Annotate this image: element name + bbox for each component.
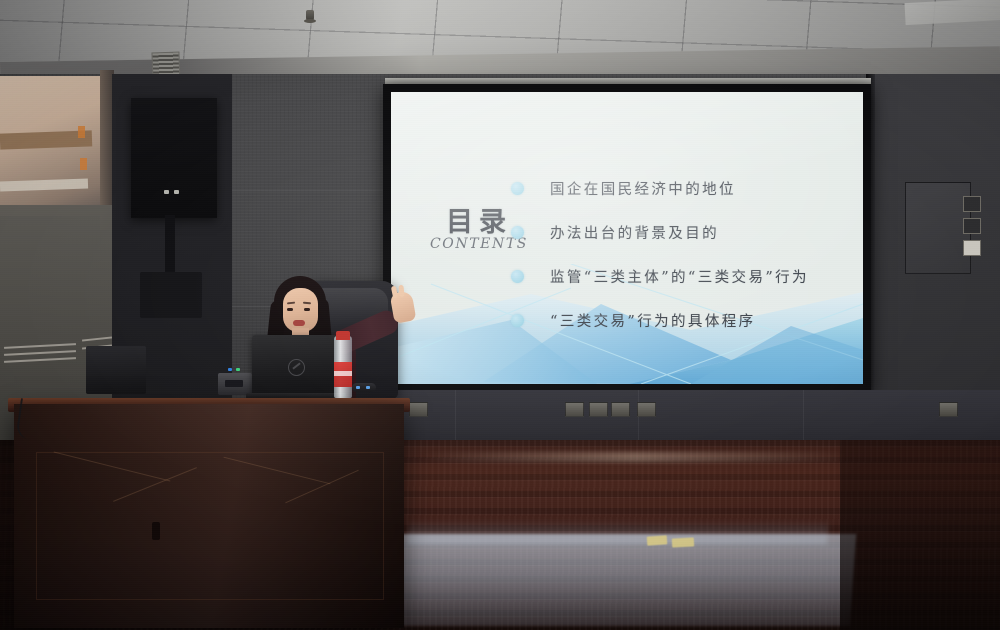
speaker-led (174, 190, 179, 194)
door-interior-shelf (0, 178, 88, 191)
presentation-slide: 目录 CONTENTS 国企在国民经济中的地位 办法出台的背景及目的 监管“三类… (391, 92, 863, 384)
podium-front-panel (36, 452, 384, 600)
bullet-dot-icon (511, 270, 524, 283)
presenter-eye (287, 308, 293, 311)
door-ornament (80, 158, 87, 170)
wall-outlet[interactable] (611, 402, 630, 417)
speaker-stand (165, 215, 175, 275)
speaker-base-unit (140, 272, 202, 318)
projection-screen: 目录 CONTENTS 国企在国民经济中的地位 办法出台的背景及目的 监管“三类… (391, 92, 863, 384)
presenter-mouth (293, 320, 305, 326)
wall-access-panel (905, 182, 971, 274)
floor-sheen (420, 452, 850, 462)
power-cable (15, 398, 50, 442)
presentation-room-photo: 目录 CONTENTS 国企在国民经济中的地位 办法出台的背景及目的 监管“三类… (0, 0, 1000, 630)
door-ornament (78, 126, 85, 138)
wall-outlet[interactable] (565, 402, 584, 417)
light-switch-plate[interactable] (963, 240, 981, 256)
bullet-text: 国企在国民经济中的地位 (550, 178, 736, 199)
wall-outlet[interactable] (589, 402, 608, 417)
wall-outlet[interactable] (409, 402, 428, 417)
list-item: 国企在国民经济中的地位 (511, 166, 863, 210)
paper-on-floor (672, 537, 694, 547)
podium-drawer-handle[interactable] (152, 522, 160, 540)
wall-outlet[interactable] (637, 402, 656, 417)
list-item: “三类交易”行为的具体程序 (511, 298, 863, 342)
bullet-text: 办法出台的背景及目的 (550, 222, 719, 243)
bottle-label (334, 362, 352, 387)
paper-on-floor (647, 535, 668, 545)
wall-outlet[interactable] (939, 402, 958, 417)
slide-bullet-list: 国企在国民经济中的地位 办法出台的背景及目的 监管“三类主体”的“三类交易”行为… (511, 166, 863, 342)
light-switch-plate[interactable] (963, 196, 981, 212)
bullet-text: 监管“三类主体”的“三类交易”行为 (550, 266, 809, 287)
left-doorway-lit-area (0, 76, 108, 216)
status-led (356, 386, 360, 389)
list-item: 办法出台的背景及目的 (511, 210, 863, 254)
list-item: 监管“三类主体”的“三类交易”行为 (511, 254, 863, 298)
sprinkler-head-icon (306, 10, 314, 22)
bottle-cap (336, 331, 350, 340)
status-led (236, 368, 240, 371)
floor-shadow-right (840, 440, 1000, 630)
status-led (366, 386, 370, 389)
light-switch-plate[interactable] (963, 218, 981, 234)
status-led (228, 368, 232, 371)
secondary-laptop[interactable] (86, 346, 146, 394)
dell-logo-icon (288, 359, 305, 376)
bullet-dot-icon (511, 226, 524, 239)
projector-light-on-floor (395, 534, 856, 626)
dell-laptop[interactable] (252, 335, 340, 397)
presenter-eye (304, 308, 310, 311)
bullet-dot-icon (511, 314, 524, 327)
bullet-text: “三类交易”行为的具体程序 (550, 310, 756, 331)
bullet-dot-icon (511, 182, 524, 195)
wall-speaker-icon (131, 98, 217, 218)
desk-control-box[interactable] (218, 373, 252, 395)
speaker-led (164, 190, 169, 194)
